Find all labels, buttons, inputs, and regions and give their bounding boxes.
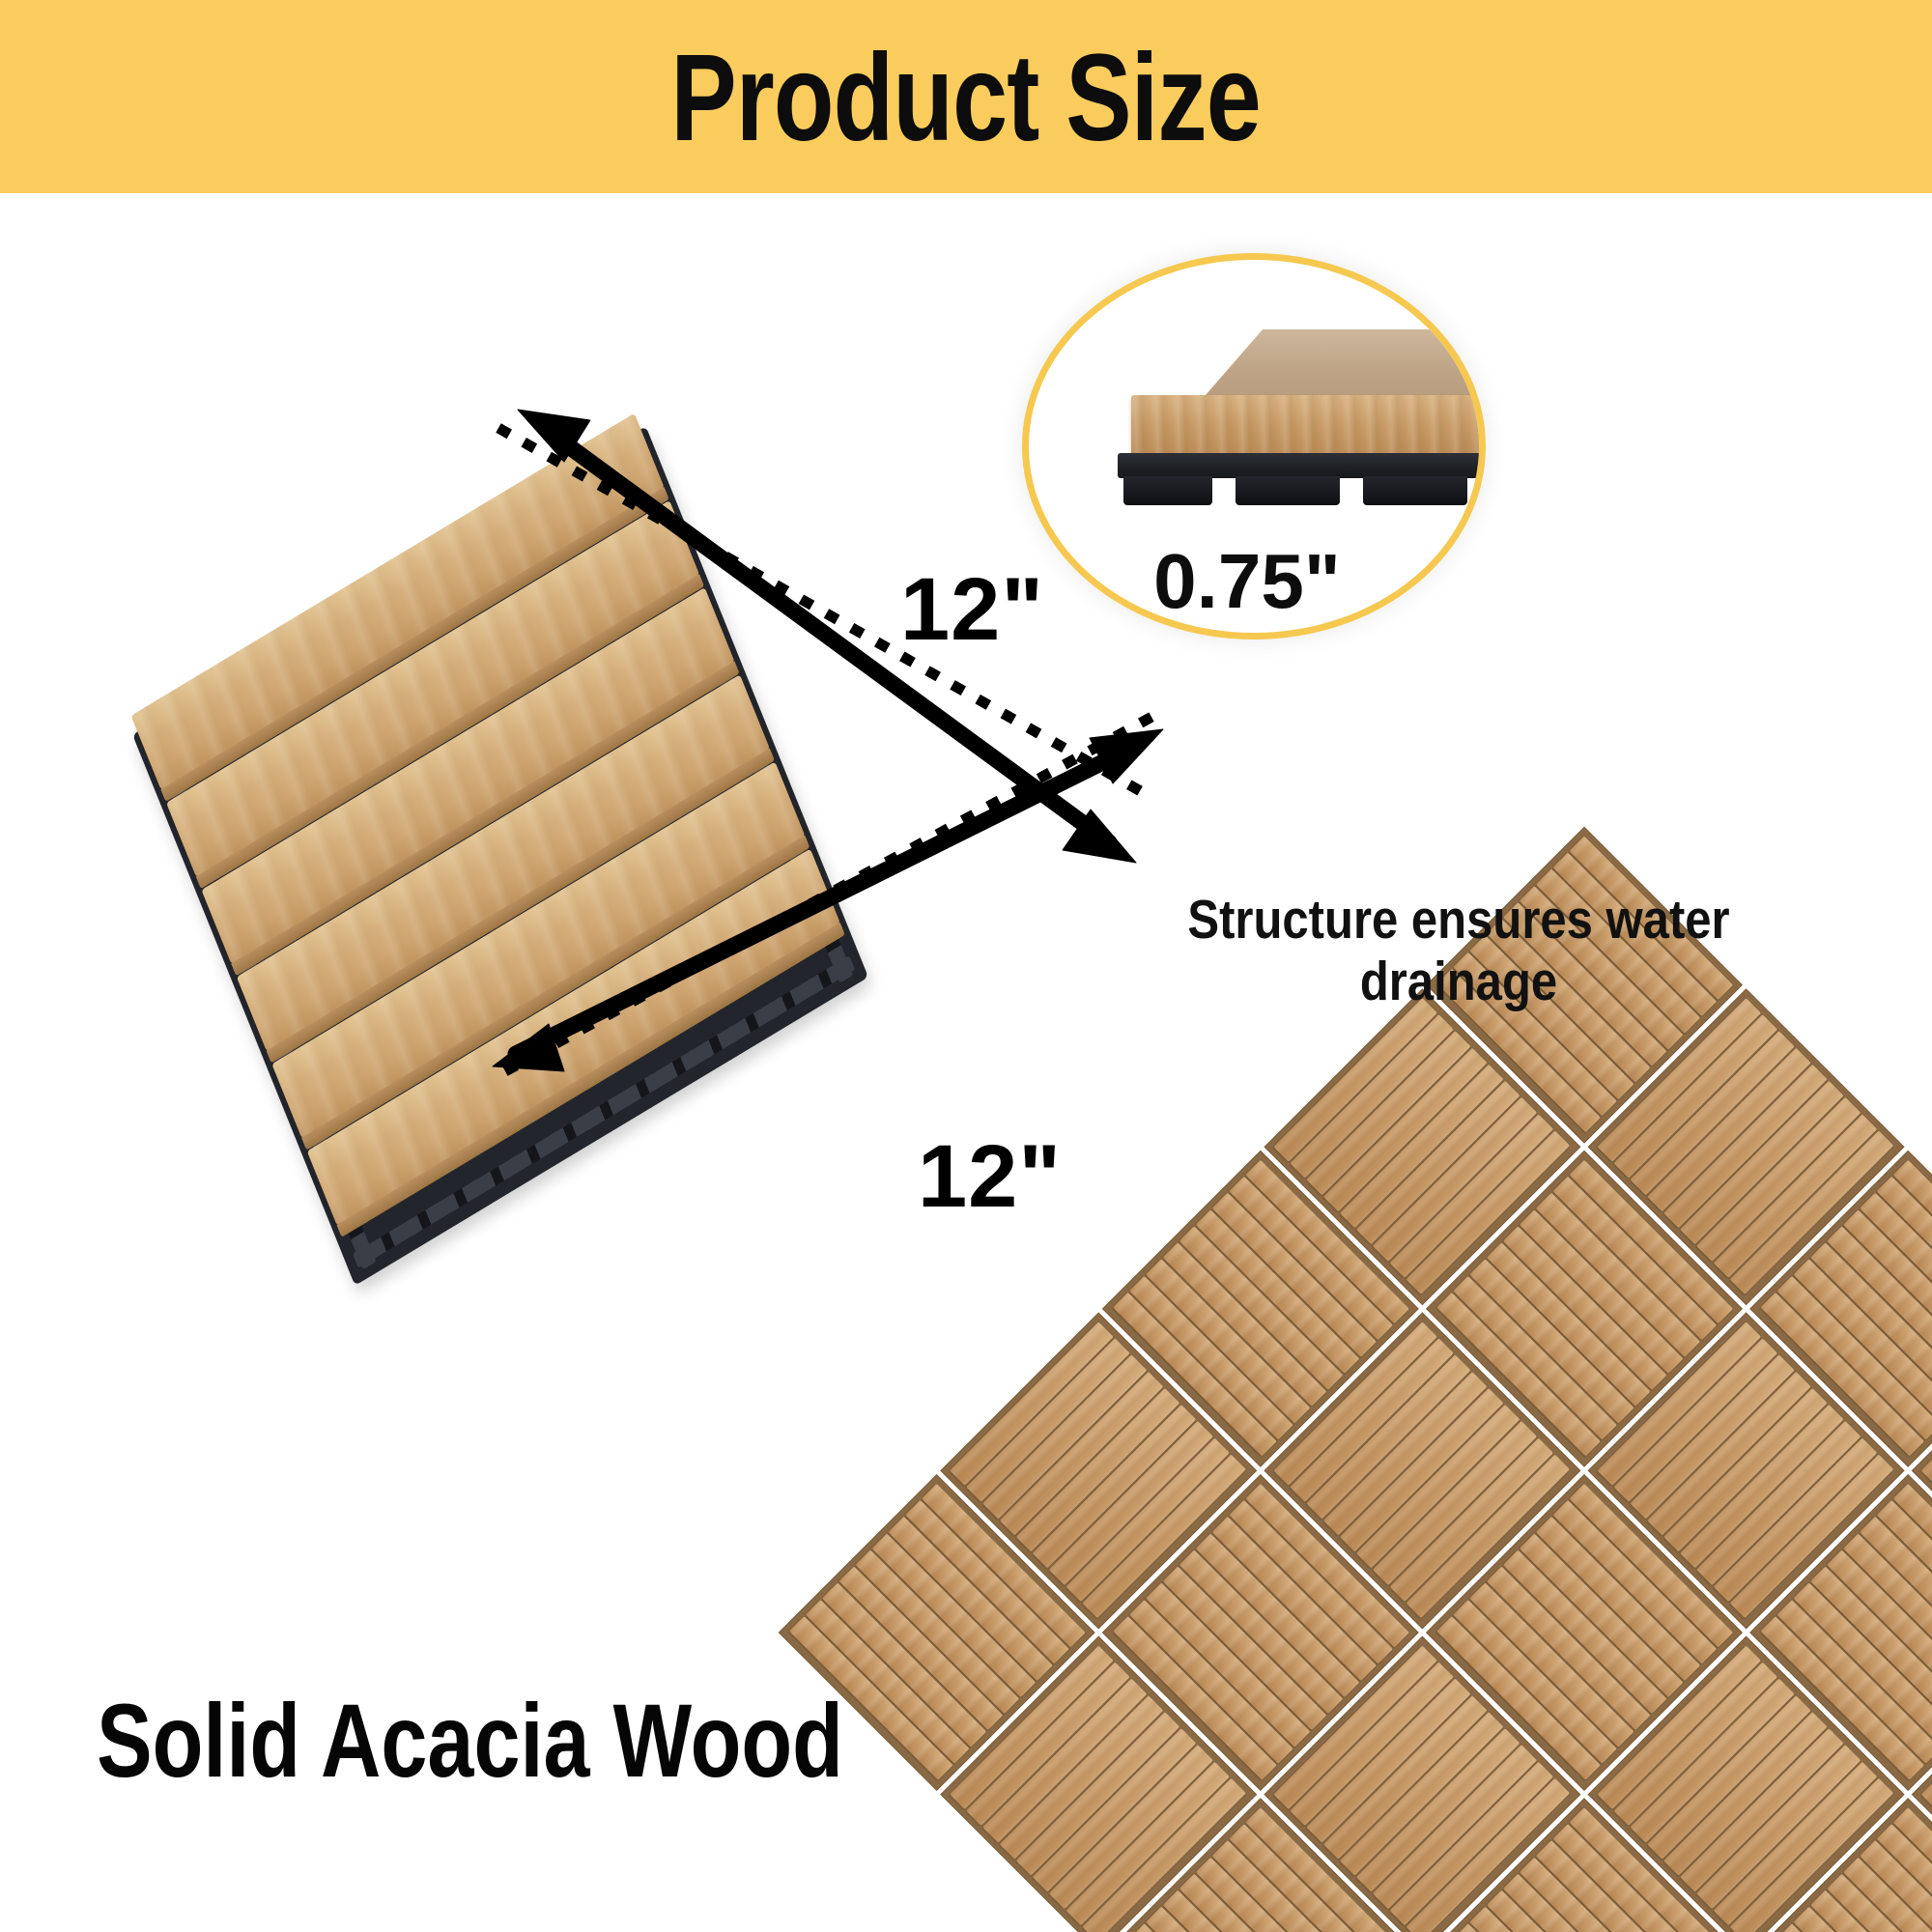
base-foot [1236, 476, 1340, 505]
arrowhead-bottom-right [1090, 729, 1163, 783]
page-title: Product Size [671, 37, 1262, 160]
callout-caption: Structure ensures water drainage [1060, 889, 1858, 1013]
cross-section-wood-edge [1131, 395, 1486, 459]
product-headline: Solid Acacia Wood [97, 1689, 843, 1793]
cross-section-top-surface [1199, 329, 1486, 403]
header-band: Product Size [0, 0, 1932, 193]
tile-wood-slats [131, 413, 850, 1249]
base-foot [1363, 476, 1467, 505]
cross-section-base-slab [1118, 453, 1486, 478]
callout-caption-line1: Structure ensures water [1060, 889, 1858, 951]
callout-caption-line2: drainage [1060, 951, 1858, 1012]
infographic-canvas: Product Size [0, 0, 1932, 1932]
thickness-callout: 0.75" [1022, 253, 1488, 639]
tile-cross-section [1110, 329, 1486, 542]
base-foot [1123, 476, 1212, 505]
thickness-value-label: 0.75" [1022, 543, 1472, 620]
